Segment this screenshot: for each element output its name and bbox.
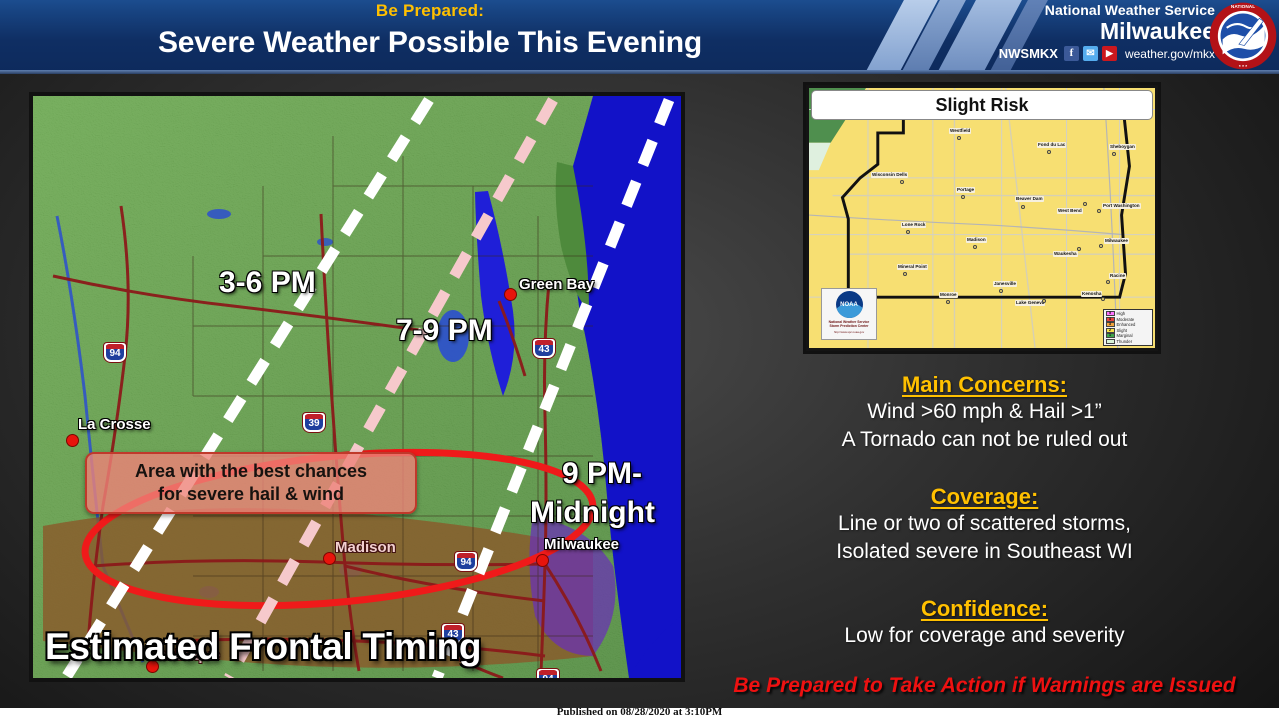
risk-city-dot <box>961 195 965 199</box>
social-handle: NWSMKX <box>999 46 1058 61</box>
risk-level-title: Slight Risk <box>811 90 1153 120</box>
legend-label: Thunder <box>1117 339 1133 344</box>
nws-roundel-icon: NATIONAL * * * <box>1209 2 1277 70</box>
spc-outlook-map: Westfield Fond du Lac Sheboygan Wisconsi… <box>809 88 1155 348</box>
legend-label: Slight <box>1117 328 1127 333</box>
city-dot <box>66 434 79 447</box>
highway-shield: 94 <box>104 343 126 362</box>
published-timestamp: Published on 08/28/2020 at 3:10PM <box>0 708 1279 718</box>
frontal-timing-map[interactable]: 3-6 PM 7-9 PM 9 PM- Midnight Area with t… <box>29 92 685 682</box>
risk-city-label: Mineral Point <box>897 264 928 270</box>
highway-shield: 39 <box>303 413 325 432</box>
timing-label: 3-6 PM <box>219 266 316 300</box>
risk-city-dot <box>957 136 961 140</box>
city-dot <box>504 288 517 301</box>
highway-number: 39 <box>308 418 319 429</box>
legend-swatch <box>1106 339 1115 344</box>
risk-city-label: Lone Rock <box>901 222 926 228</box>
city-label-milwaukee: Milwaukee <box>544 536 619 553</box>
risk-city-dot <box>1101 297 1105 301</box>
agency-name: National Weather Service <box>999 2 1215 18</box>
risk-city-dot <box>1083 202 1087 206</box>
risk-city-dot <box>1097 209 1101 213</box>
right-info-column: Slight Risk <box>690 74 1279 719</box>
facebook-icon[interactable]: f <box>1064 46 1079 61</box>
risk-city-label: Madison <box>966 237 987 243</box>
map-bottom-title: Estimated Frontal Timing <box>45 626 481 668</box>
risk-city-dot <box>1106 280 1110 284</box>
risk-city-label: Kenosha <box>1081 291 1102 297</box>
legend-row: 2 Slight <box>1106 328 1151 333</box>
risk-city-dot <box>1099 244 1103 248</box>
highway-number: 43 <box>447 629 458 640</box>
risk-city-label: Fond du Lac <box>1037 142 1066 148</box>
risk-city-dot <box>900 180 904 184</box>
timing-label: 9 PM- <box>562 457 642 491</box>
svg-text:NATIONAL: NATIONAL <box>1231 4 1255 10</box>
call-to-action-text: Be Prepared to Take Action if Warnings a… <box>690 674 1279 698</box>
highway-number: 94 <box>109 348 120 359</box>
risk-city-label: Racine <box>1109 273 1126 279</box>
legend-swatch: 4 <box>1106 317 1115 322</box>
section-heading: Coverage: <box>690 484 1279 510</box>
footer-bar: Published on 08/28/2020 at 3:10PM <box>0 708 1279 719</box>
risk-city-label: Janesville <box>993 281 1017 287</box>
twitter-icon[interactable]: ✉ <box>1083 46 1098 61</box>
legend-label: High <box>1117 311 1126 316</box>
risk-city-dot <box>1077 247 1081 251</box>
section-line: A Tornado can not be ruled out <box>690 426 1279 454</box>
risk-city-label: Sheboygan <box>1109 144 1136 150</box>
risk-city-dot <box>946 300 950 304</box>
section-heading: Main Concerns: <box>690 372 1279 398</box>
section-line: Isolated severe in Southeast WI <box>690 538 1279 566</box>
header-banner: Be Prepared: Severe Weather Possible Thi… <box>0 0 1279 74</box>
svg-text:* * *: * * * <box>1239 64 1247 70</box>
legend-label: Marginal <box>1117 333 1133 338</box>
highway-number: 43 <box>538 344 549 355</box>
best-chances-callout: Area with the best chances for severe ha… <box>85 452 417 514</box>
section-line: Low for coverage and severity <box>690 622 1279 650</box>
legend-label: Enhanced <box>1117 322 1136 327</box>
youtube-icon[interactable]: ▶ <box>1102 46 1117 61</box>
office-city: Milwaukee <box>999 19 1215 43</box>
nws-office-block: National Weather Service Milwaukee NWSMK… <box>999 2 1215 61</box>
risk-city-label: Portage <box>956 187 975 193</box>
risk-city-label: Monroe <box>939 292 958 298</box>
map-graphic <box>33 96 681 678</box>
city-label-madison: Madison <box>335 539 396 556</box>
section-line: Wind >60 mph & Hail >1” <box>690 398 1279 426</box>
risk-city-label: Port Washington <box>1102 203 1141 209</box>
risk-city-dot <box>1112 152 1116 156</box>
noaa-wordmark: NOAA <box>840 302 858 308</box>
highway-shield: 94 <box>455 552 477 571</box>
highway-number: 94 <box>460 557 471 568</box>
highway-shield: 43 <box>533 339 555 358</box>
banner-pretitle: Be Prepared: <box>0 1 860 21</box>
city-label-green-bay: Green Bay <box>519 276 594 293</box>
callout-line-1: Area with the best chances <box>135 460 367 483</box>
legend-row: 3 Enhanced <box>1106 322 1151 327</box>
risk-city-dot <box>1047 150 1051 154</box>
risk-city-label: Wisconsin Dells <box>871 172 908 178</box>
noaa-url-text: http://www.spc.noaa.gov <box>834 330 864 334</box>
section-heading: Confidence: <box>690 596 1279 622</box>
legend-row: 5 High <box>1106 311 1151 316</box>
callout-line-2: for severe hail & wind <box>158 483 344 506</box>
website-link[interactable]: weather.gov/mkx <box>1125 47 1215 61</box>
risk-city-dot <box>1021 205 1025 209</box>
legend-swatch: 2 <box>1106 328 1115 333</box>
legend-row: 1 Marginal <box>1106 333 1151 338</box>
section-main-concerns: Main Concerns: Wind >60 mph & Hail >1” A… <box>690 372 1279 454</box>
risk-city-label: Westfield <box>949 128 971 134</box>
risk-city-dot <box>1042 299 1046 303</box>
spc-risk-legend: 5 High 4 Moderate 3 Enhanced 2 Slight 1 <box>1103 309 1153 347</box>
timing-label: Midnight <box>530 496 655 530</box>
risk-city-dot <box>906 230 910 234</box>
noaa-agency-text: National Weather Service Storm Predictio… <box>829 320 870 329</box>
highway-number: 94 <box>542 674 553 682</box>
spc-risk-panel[interactable]: Slight Risk <box>803 82 1161 354</box>
legend-row: Thunder <box>1106 339 1151 344</box>
risk-city-label: West Bend <box>1057 208 1083 214</box>
legend-row: 4 Moderate <box>1106 317 1151 322</box>
legend-swatch: 1 <box>1106 333 1115 338</box>
city-label-la-crosse: La Crosse <box>78 416 151 433</box>
legend-swatch: 5 <box>1106 311 1115 316</box>
timing-label: 7-9 PM <box>396 314 493 348</box>
noaa-line-2: Storm Prediction Center <box>829 324 870 329</box>
section-confidence: Confidence: Low for coverage and severit… <box>690 596 1279 650</box>
legend-label: Moderate <box>1117 317 1135 322</box>
section-line: Line or two of scattered storms, <box>690 510 1279 538</box>
banner-title: Severe Weather Possible This Evening <box>0 26 860 60</box>
legend-swatch: 3 <box>1106 322 1115 327</box>
risk-city-dot <box>973 245 977 249</box>
risk-city-label: Beaver Dam <box>1015 196 1044 202</box>
social-links-row: NWSMKX f ✉ ▶ weather.gov/mkx <box>999 46 1215 61</box>
noaa-logo-icon: NOAA <box>836 291 863 318</box>
section-coverage: Coverage: Line or two of scattered storm… <box>690 484 1279 566</box>
risk-city-label: Milwaukee <box>1104 238 1129 244</box>
risk-city-label: Waukesha <box>1053 251 1078 257</box>
risk-city-dot <box>999 289 1003 293</box>
highway-shield: 94 <box>537 669 559 682</box>
noaa-spc-badge: NOAA National Weather Service Storm Pred… <box>821 288 877 340</box>
risk-city-label: Lake Geneva <box>1015 300 1045 306</box>
city-dot <box>536 554 549 567</box>
risk-city-dot <box>903 272 907 276</box>
